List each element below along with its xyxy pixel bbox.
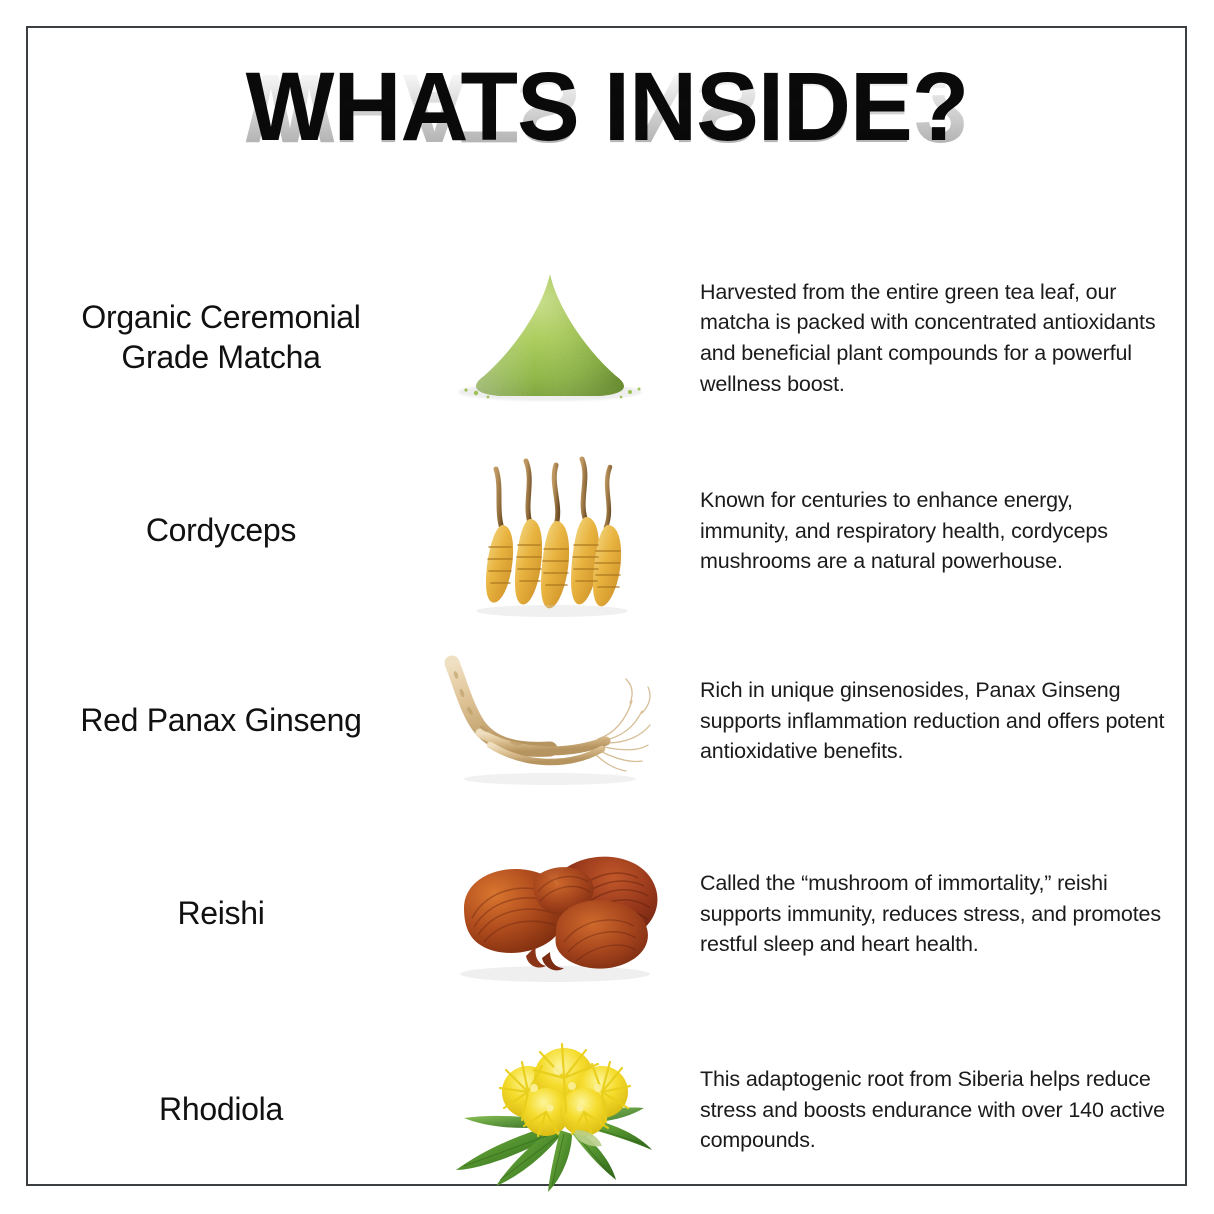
ingredient-name-rhodiola: Rhodiola [0,1090,400,1130]
ingredient-image-matcha [400,258,700,418]
ingredient-name-reishi: Reishi [0,894,400,934]
rhodiola-flower-icon [430,1030,680,1195]
ingredient-row-cordyceps: Cordyceps [0,436,1214,626]
ingredient-image-rhodiola [400,1030,700,1190]
ingredient-row-ginseng: Red Panax Ginseng [0,626,1214,816]
page-title-reflection: WHATS INSIDE? [18,60,1196,157]
cordyceps-mushrooms-icon [430,451,670,621]
ingredient-list: Organic Ceremonial Grade Matcha [0,240,1214,1208]
ginseng-root-icon [430,641,680,791]
ingredient-description-ginseng: Rich in unique ginsenosides, Panax Ginse… [700,675,1214,767]
page-title-block: WHATS INSIDE? WHATS INSIDE? [0,58,1214,254]
ingredient-row-reishi: Reishi [0,816,1214,1012]
ingredient-name-cordyceps: Cordyceps [0,511,400,551]
ingredient-row-matcha: Organic Ceremonial Grade Matcha [0,240,1214,436]
ingredient-image-reishi [400,834,700,994]
ingredient-description-matcha: Harvested from the entire green tea leaf… [700,277,1214,400]
ingredient-description-rhodiola: This adaptogenic root from Siberia helps… [700,1064,1214,1156]
ingredient-description-reishi: Called the “mushroom of immortality,” re… [700,868,1214,960]
matcha-powder-mound-icon [430,258,670,418]
whats-inside-infographic: WHATS INSIDE? WHATS INSIDE? Organic Cere… [0,0,1214,1214]
ingredient-description-cordyceps: Known for centuries to enhance energy, i… [700,485,1214,577]
ingredient-image-ginseng [400,641,700,801]
ingredient-name-matcha: Organic Ceremonial Grade Matcha [0,298,400,377]
ingredient-row-rhodiola: Rhodiola [0,1012,1214,1208]
ingredient-image-cordyceps [400,451,700,611]
ingredient-name-ginseng: Red Panax Ginseng [0,701,400,741]
reishi-mushrooms-icon [430,834,680,994]
